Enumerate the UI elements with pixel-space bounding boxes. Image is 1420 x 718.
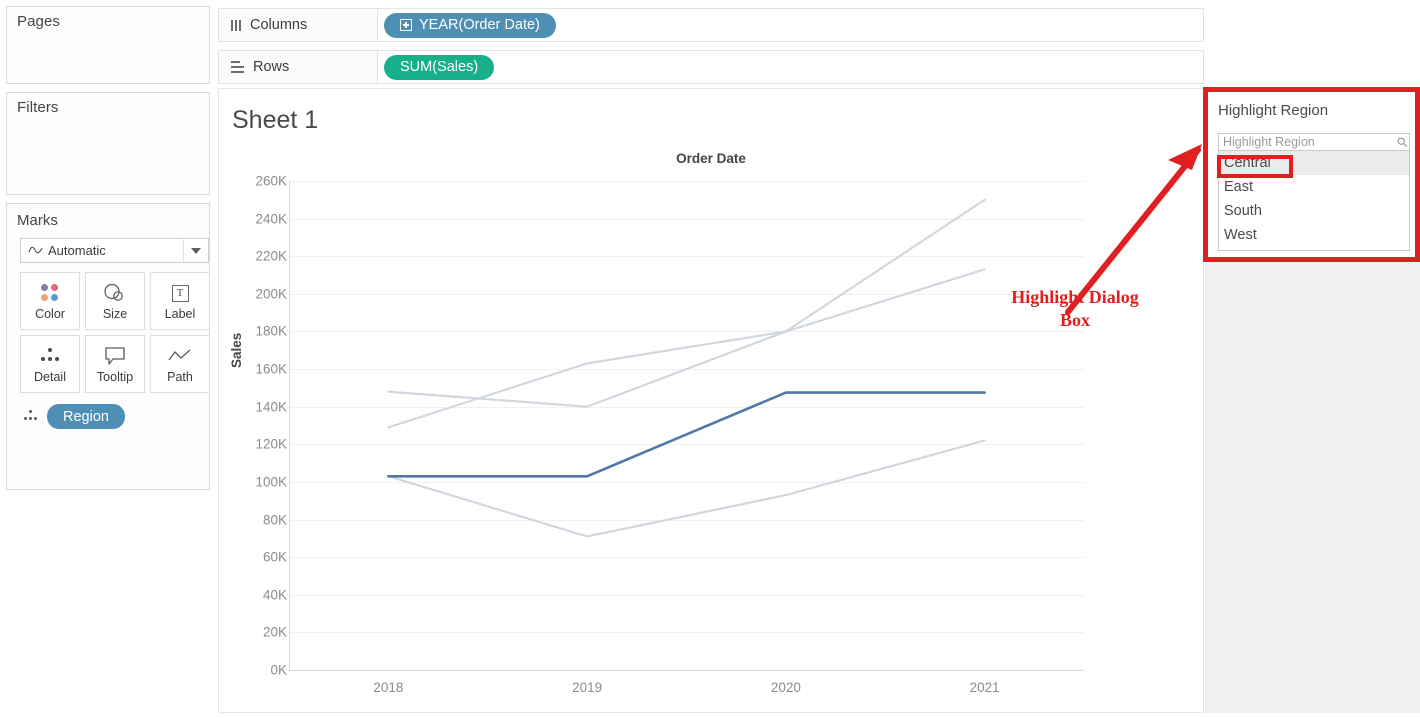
columns-icon [231, 19, 241, 31]
path-line-icon [168, 344, 192, 368]
line-squiggle-icon [28, 243, 43, 258]
pages-shelf[interactable]: Pages [6, 6, 210, 84]
marks-color-button[interactable]: Color [20, 272, 80, 330]
pages-label: Pages [17, 13, 60, 30]
series-line-east[interactable] [388, 200, 984, 407]
magnifier-icon[interactable] [1395, 137, 1409, 148]
rows-pill-label: SUM(Sales) [400, 59, 478, 75]
series-line-south[interactable] [388, 441, 984, 537]
worksheet-view: Sheet 1 Order Date Sales 0K20K40K60K80K1… [218, 88, 1204, 713]
highlight-search-input[interactable]: Highlight Region [1218, 133, 1410, 151]
rows-drop-area[interactable]: SUM(Sales) [378, 50, 1204, 84]
color-dots-icon [40, 281, 60, 305]
plus-expand-icon[interactable] [400, 19, 412, 31]
marks-size-label: Size [103, 308, 127, 321]
highlight-dialog-title: Highlight Region [1218, 102, 1328, 119]
shelf-strip: Columns YEAR(Order Date) Rows SUM(Sales) [218, 8, 1204, 84]
detail-dots-icon [23, 410, 39, 424]
rows-icon [231, 61, 244, 72]
columns-pill-label: YEAR(Order Date) [419, 17, 540, 33]
filters-label: Filters [17, 99, 59, 116]
marks-label-button[interactable]: T Label [150, 272, 210, 330]
marks-detail-button[interactable]: Detail [20, 335, 80, 393]
label-t-icon: T [172, 281, 189, 305]
mark-type-value: Automatic [48, 243, 183, 258]
rows-shelf-label-box: Rows [218, 50, 378, 84]
chevron-down-icon[interactable] [183, 239, 208, 262]
mark-type-dropdown[interactable]: Automatic [20, 238, 209, 263]
columns-shelf-row: Columns YEAR(Order Date) [218, 8, 1204, 42]
marks-path-label: Path [167, 371, 193, 384]
marks-field-region[interactable]: Region [23, 404, 125, 429]
highlight-list-item-east[interactable]: East [1219, 175, 1409, 199]
annotation-line-1: Highlight Dialog [985, 286, 1165, 309]
annotation-label: Highlight Dialog Box [985, 286, 1165, 331]
marks-card: Marks Automatic Color [6, 203, 210, 490]
line-chart[interactable]: 0K20K40K60K80K100K120K140K160K180K200K22… [219, 89, 1203, 712]
marks-tooltip-button[interactable]: Tooltip [85, 335, 145, 393]
rows-label: Rows [253, 59, 289, 75]
chart-series-layer [219, 89, 1205, 714]
rows-shelf-row: Rows SUM(Sales) [218, 50, 1204, 84]
columns-label: Columns [250, 17, 307, 33]
highlight-list-item-west[interactable]: West [1219, 223, 1409, 247]
marks-label: Marks [17, 212, 58, 229]
marks-size-button[interactable]: Size [85, 272, 145, 330]
series-line-central[interactable] [388, 393, 984, 477]
region-pill[interactable]: Region [47, 404, 125, 429]
highlight-region-list[interactable]: CentralEastSouthWest [1218, 151, 1410, 251]
series-line-west[interactable] [388, 269, 984, 427]
tooltip-bubble-icon [104, 344, 126, 368]
tableau-worksheet: Pages Filters Marks Automatic [0, 0, 1420, 718]
marks-tooltip-label: Tooltip [97, 371, 133, 384]
marks-detail-label: Detail [34, 371, 66, 384]
columns-pill-year-order-date[interactable]: YEAR(Order Date) [384, 13, 556, 38]
marks-buttons-grid: Color Size T Label [20, 272, 210, 398]
annotation-line-2: Box [985, 309, 1165, 332]
rows-pill-sum-sales[interactable]: SUM(Sales) [384, 55, 494, 80]
columns-shelf-label-box: Columns [218, 8, 378, 42]
highlight-list-item-south[interactable]: South [1219, 199, 1409, 223]
marks-label-label: Label [165, 308, 196, 321]
left-shelf-column: Pages Filters Marks Automatic [0, 0, 217, 718]
filters-shelf[interactable]: Filters [6, 92, 210, 195]
marks-color-label: Color [35, 308, 65, 321]
detail-dots-icon [39, 344, 61, 368]
columns-drop-area[interactable]: YEAR(Order Date) [378, 8, 1204, 42]
highlight-search-placeholder: Highlight Region [1219, 135, 1395, 149]
highlight-list-item-central[interactable]: Central [1219, 151, 1409, 175]
marks-path-button[interactable]: Path [150, 335, 210, 393]
size-circles-icon [103, 281, 127, 305]
